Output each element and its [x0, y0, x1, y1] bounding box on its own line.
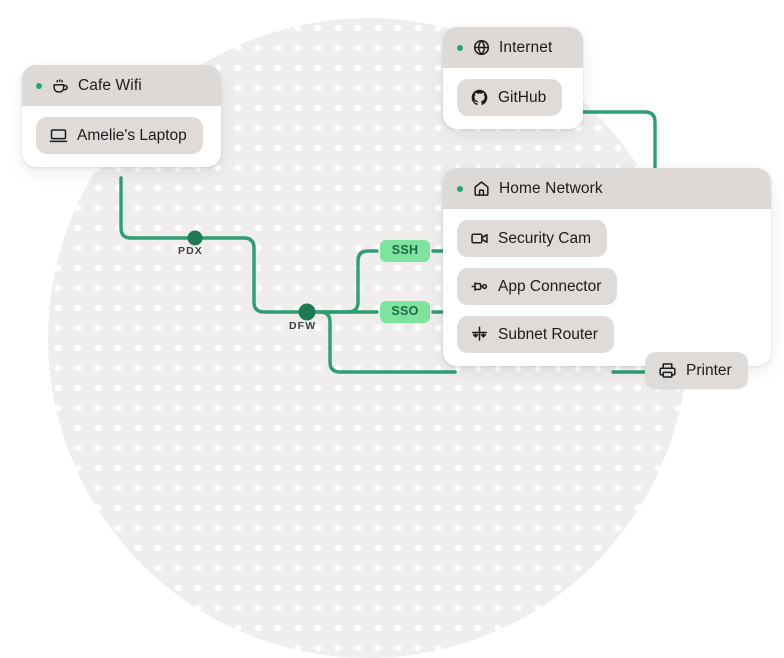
card-body-internet: GitHub	[443, 68, 583, 129]
status-dot-online	[36, 83, 42, 89]
relay-node-label-dfw: DFW	[289, 320, 316, 332]
device-chip-subnet-router[interactable]: Subnet Router	[457, 316, 614, 353]
printer-icon	[658, 361, 677, 380]
status-dot-online	[457, 45, 463, 51]
card-body-cafe-wifi: Amelie's Laptop	[22, 106, 221, 167]
subnet-router-icon	[470, 325, 489, 344]
acl-badge-sso[interactable]: SSO	[380, 301, 430, 323]
relay-node-dot-pdx	[188, 231, 203, 246]
github-icon	[470, 88, 489, 107]
edge-dfw-to-ssh	[307, 251, 377, 312]
relay-node-label-pdx: PDX	[178, 245, 203, 257]
laptop-icon	[49, 126, 68, 145]
globe-icon	[472, 38, 491, 57]
relay-node-dot-dfw	[299, 304, 316, 321]
card-internet[interactable]: Internet GitHub	[443, 27, 583, 129]
app-connector-icon	[470, 277, 489, 296]
coffee-cup-icon	[51, 76, 70, 95]
device-chip-amelies-laptop[interactable]: Amelie's Laptop	[36, 117, 203, 154]
acl-badge-ssh[interactable]: SSH	[380, 240, 430, 262]
device-label-printer: Printer	[686, 362, 732, 380]
status-dot-online	[457, 186, 463, 192]
edge-cafewifi-to-pdx	[121, 178, 195, 238]
home-icon	[472, 179, 491, 198]
card-header-home-network[interactable]: Home Network	[443, 168, 771, 209]
card-title-home-network: Home Network	[499, 180, 603, 198]
device-label-security-cam: Security Cam	[498, 230, 591, 248]
device-label-github: GitHub	[498, 89, 546, 107]
card-header-internet[interactable]: Internet	[443, 27, 583, 68]
card-header-cafe-wifi[interactable]: Cafe Wifi	[22, 65, 221, 106]
card-title-cafe-wifi: Cafe Wifi	[78, 77, 142, 95]
diagram-canvas: PDX DFW SSH SSO Cafe Wifi Amelie's Lapto…	[0, 0, 784, 437]
device-label-subnet-router: Subnet Router	[498, 326, 598, 344]
device-label-app-connector: App Connector	[498, 278, 601, 296]
device-chip-security-cam[interactable]: Security Cam	[457, 220, 607, 257]
device-label-amelies-laptop: Amelie's Laptop	[77, 127, 187, 145]
card-body-home-network: Security Cam App Connector	[443, 209, 771, 366]
device-chip-printer[interactable]: Printer	[645, 352, 748, 389]
card-title-internet: Internet	[499, 39, 552, 57]
edge-pdx-to-dfw	[195, 238, 307, 312]
device-chip-github[interactable]: GitHub	[457, 79, 562, 116]
card-home-network[interactable]: Home Network Security Cam App Connector	[443, 168, 771, 366]
video-camera-icon	[470, 229, 489, 248]
device-chip-app-connector[interactable]: App Connector	[457, 268, 617, 305]
card-cafe-wifi[interactable]: Cafe Wifi Amelie's Laptop	[22, 65, 221, 167]
